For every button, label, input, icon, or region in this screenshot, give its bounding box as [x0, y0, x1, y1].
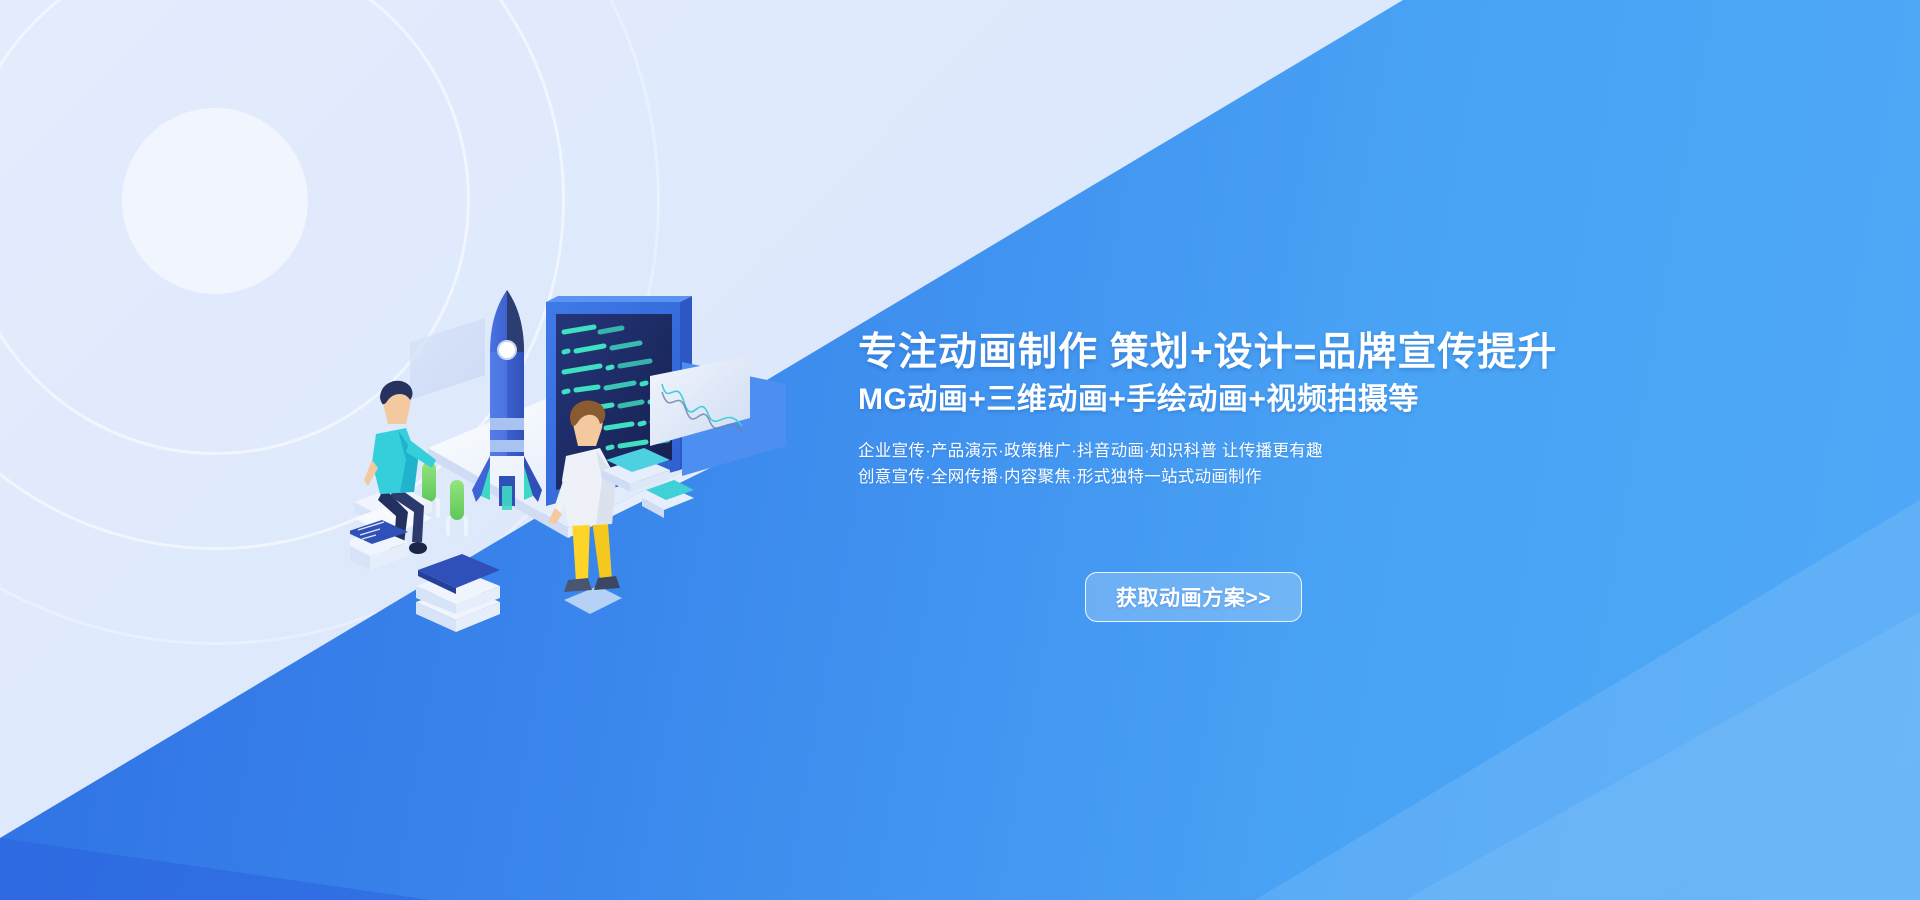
subtext-group: 企业宣传·产品演示·政策推广·抖音动画·知识科普 让传播更有趣 创意宣传·全网传…: [858, 438, 1578, 491]
get-animation-plan-button[interactable]: 获取动画方案>>: [1085, 572, 1302, 622]
promo-banner: 专注动画制作 策划+设计=品牌宣传提升 MG动画+三维动画+手绘动画+视频拍摄等…: [0, 0, 1920, 900]
cta-container: 获取动画方案>>: [1085, 572, 1302, 622]
banner-copy: 专注动画制作 策划+设计=品牌宣传提升 MG动画+三维动画+手绘动画+视频拍摄等…: [858, 330, 1578, 491]
subtext-line-1: 企业宣传·产品演示·政策推广·抖音动画·知识科普 让传播更有趣: [858, 438, 1578, 465]
subtext-line-2: 创意宣传·全网传播·内容聚焦·形式独特一站式动画制作: [858, 464, 1578, 491]
glass-panel-left: [410, 318, 485, 400]
ring-center-dot: [122, 108, 308, 294]
headline-primary: 专注动画制作 策划+设计=品牌宣传提升: [858, 330, 1578, 375]
headline-secondary: MG动画+三维动画+手绘动画+视频拍摄等: [858, 382, 1578, 417]
isometric-illustration: [350, 280, 810, 680]
